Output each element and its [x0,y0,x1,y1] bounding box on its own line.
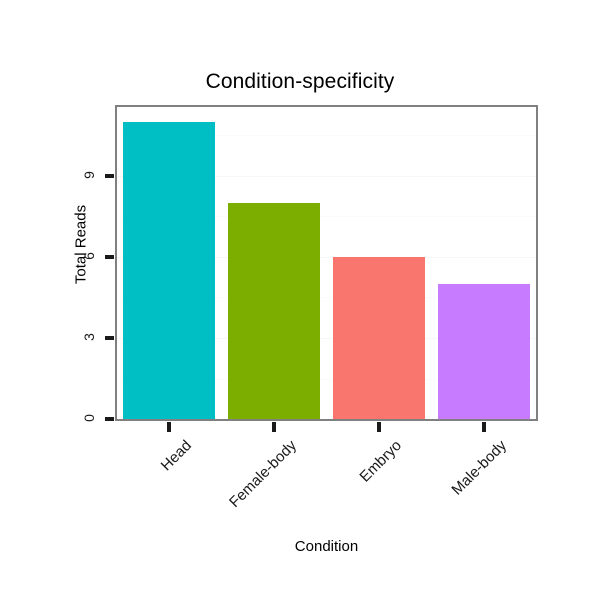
y-tick-mark [105,336,114,340]
x-tick-mark [482,422,486,432]
bars-layer [117,107,536,419]
plot-panel [115,105,538,421]
y-tick-label: 3 [81,327,97,347]
y-tick-mark [105,417,114,421]
bar-chart-figure: Condition-specificity Total Reads Condit… [0,0,600,600]
bar-female-body[interactable] [228,203,320,419]
bar-embryo[interactable] [333,257,425,419]
x-tick-mark [167,422,171,432]
x-tick-mark [377,422,381,432]
chart-title: Condition-specificity [0,70,600,94]
bar-head[interactable] [123,122,215,419]
x-tick-mark [272,422,276,432]
y-tick-mark [105,174,114,178]
y-tick-label: 9 [81,165,97,185]
bar-male-body[interactable] [438,284,530,419]
y-tick-label: 0 [81,408,97,428]
y-tick-label: 6 [81,246,97,266]
y-axis-title: Total Reads [73,185,90,305]
y-tick-mark [105,255,114,259]
